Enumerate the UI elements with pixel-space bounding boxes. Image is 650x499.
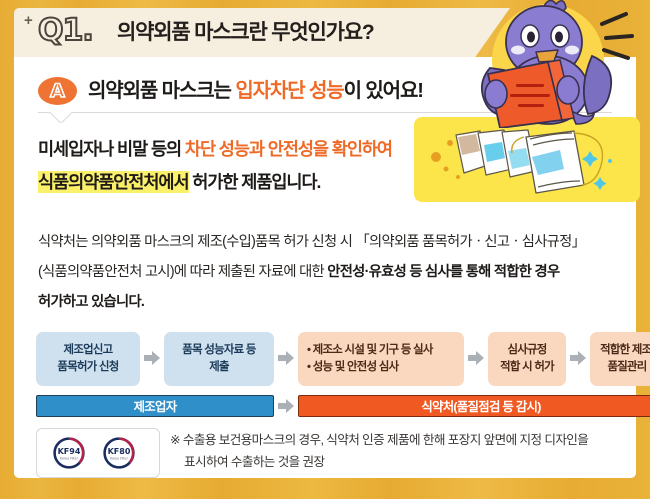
flow-step-3-line1: • 제조소 시설 및 기구 등 실사 (307, 342, 464, 359)
arrow-right-icon-4 (570, 351, 586, 365)
body-paragraph: 식약처는 의약외품 마스크의 제조(수입)품목 허가 신청 시 「의약외품 품목… (38, 227, 634, 317)
kf-badge-box: KF94 Korea Filter KF80 Korea Filter (36, 428, 160, 478)
flow-step-3-line2: • 성능 및 안전성 심사 (307, 359, 464, 376)
arrow-right-icon-2 (278, 351, 294, 365)
body-line3: 허가하고 있습니다. (38, 294, 144, 310)
infographic-card: + Q1. 의약외품 마스크란 무엇인가요? A 의약외품 마스크는 입자차단 … (0, 0, 650, 499)
mask-illustration-panel (414, 117, 640, 202)
flow-step-5: 적합한 제조, 품질관리 (590, 332, 650, 386)
answer-prefix: 의약외품 마스크는 (88, 80, 235, 102)
arrow-right-icon-5 (278, 399, 294, 413)
flow-step-5-line2: 품질관리 (590, 359, 650, 376)
lead-paragraph: 미세입자나 비말 등의 차단 성능과 안전성을 확인하여 식품의약품안전처에서 … (38, 133, 414, 199)
svg-text:KF94: KF94 (58, 447, 81, 456)
svg-text:KF80: KF80 (108, 447, 131, 456)
flow-step-1-line1: 제조업신고 (36, 342, 140, 359)
footer-note-line2: 표시하여 수출하는 것을 권장 (170, 451, 640, 473)
answer-text: 의약외품 마스크는 입자차단 성능이 있어요! (88, 77, 423, 105)
question-title: 의약외품 마스크란 무엇인가요? (117, 19, 373, 47)
kf94-badge-icon: KF94 Korea Filter (53, 437, 85, 469)
mascot-sparkle-lines (602, 14, 632, 58)
svg-text:Korea Filter: Korea Filter (110, 456, 129, 460)
body-line1: 식약처는 의약외품 마스크의 제조(수입)품목 허가 신청 시 「의약외품 품목… (38, 234, 585, 250)
arrow-right-icon-1 (144, 351, 160, 365)
answer-suffix: 이 있어요! (344, 80, 423, 102)
flow-step-5-line1: 적합한 제조, (590, 342, 650, 359)
bird-mascot (452, 0, 650, 128)
lead-line2-marked: 식품의약품안전처에서 (38, 171, 189, 193)
flow-step-3: • 제조소 시설 및 기구 등 실사 • 성능 및 안전성 심사 (298, 332, 464, 386)
lead-line2-rest: 허가한 제품입니다. (189, 172, 321, 192)
answer-highlight: 입자차단 성능 (235, 80, 343, 102)
body-line2-plain: (식품의약품안전처 고시)에 따라 제출된 자료에 대한 (38, 264, 327, 280)
answer-badge-label: A (38, 77, 77, 105)
bar-manufacturer: 제조업자 (36, 395, 274, 417)
flow-summary-bars: 제조업자 식약처(품질점검 등 감시) (36, 395, 616, 417)
answer-badge: A (38, 77, 77, 105)
svg-text:Korea Filter: Korea Filter (60, 456, 79, 460)
question-number: Q1. (38, 14, 93, 48)
arrow-right-icon-3 (468, 351, 484, 365)
flow-step-1-line2: 품목허가 신청 (36, 359, 140, 376)
kf80-badge-icon: KF80 Korea Filter (103, 437, 135, 469)
mask-layers-icon (414, 117, 640, 202)
lead-line1-plain: 미세입자나 비말 등의 (38, 139, 185, 159)
flow-step-2-line2: 제출 (164, 359, 274, 376)
flow-step-2: 품목 성능자료 등 제출 (164, 332, 274, 386)
flow-step-4: 심사규정 적합 시 허가 (488, 332, 566, 386)
lead-line1-highlight: 차단 성능과 안전성을 확인하여 (185, 139, 392, 159)
flow-step-4-line2: 적합 시 허가 (488, 359, 566, 376)
flow-step-4-line1: 심사규정 (488, 342, 566, 359)
flow-step-1: 제조업신고 품목허가 신청 (36, 332, 140, 386)
bar-mfds: 식약처(품질점검 등 감시) (298, 395, 650, 417)
flow-step-2-line1: 품목 성능자료 등 (164, 342, 274, 359)
body-line2-bold: 안전성·유효성 등 심사를 통해 적합한 경우 (327, 264, 559, 280)
flow-chart: 제조업신고 품목허가 신청 품목 성능자료 등 제출 • 제조소 시설 및 기구… (36, 332, 616, 392)
footer-note-line1: ※ 수출용 보건용마스크의 경우, 식약처 인증 제품에 한해 포장지 앞면에 … (170, 433, 588, 447)
footer-note: ※ 수출용 보건용마스크의 경우, 식약처 인증 제품에 한해 포장지 앞면에 … (170, 429, 640, 473)
plus-icon: + (24, 12, 33, 29)
divider-notch (50, 112, 72, 123)
